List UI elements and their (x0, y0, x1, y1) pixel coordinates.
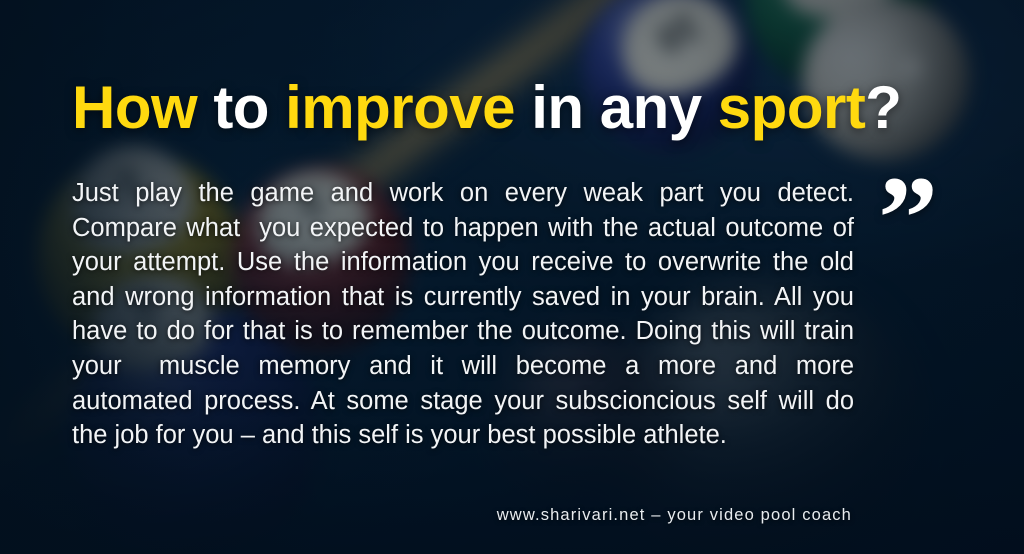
headline-word-6: in any (531, 74, 701, 141)
body-copy: Just play the game and work on every wea… (72, 176, 854, 453)
headline-word-2: to (213, 74, 269, 141)
headline-word-7 (702, 74, 718, 141)
poster-content: How to improve in any sport? ” Just play… (0, 0, 1024, 554)
quotation-mark-icon: ” (878, 168, 938, 268)
body-paragraph: Just play the game and work on every wea… (72, 176, 854, 453)
headline: How to improve in any sport? (72, 76, 901, 140)
footer-credit: www.sharivari.net – your video pool coac… (497, 506, 852, 525)
headline-word-3 (269, 74, 285, 141)
headline-word-9: ? (865, 74, 901, 141)
headline-word-0: How (72, 74, 197, 141)
headline-word-4: improve (285, 74, 515, 141)
headline-word-1 (197, 74, 213, 141)
headline-word-8: sport (718, 74, 866, 141)
headline-word-5 (515, 74, 531, 141)
poster-image: 14 10 1 3 2 How to improve in any sport?… (0, 0, 1024, 554)
